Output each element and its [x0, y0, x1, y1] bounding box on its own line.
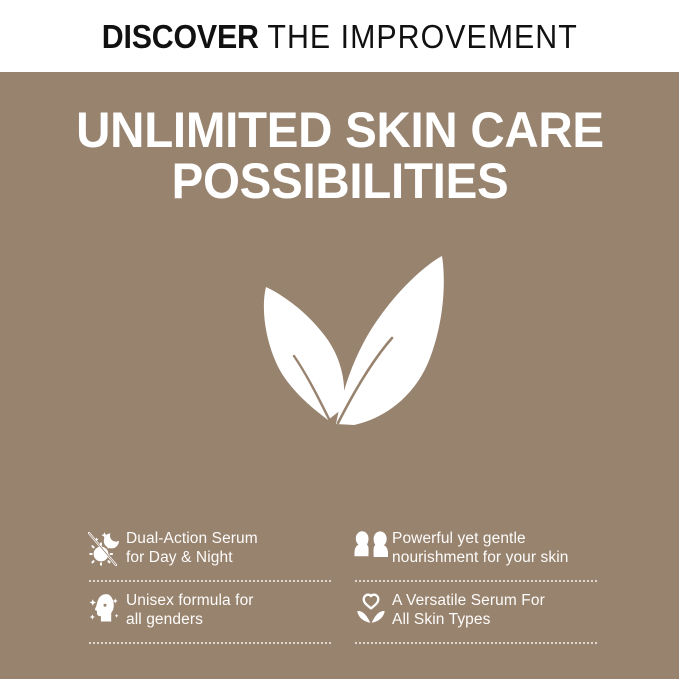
main-panel: UNLIMITED SKIN CARE POSSIBILITIES [0, 72, 679, 679]
two-face-silhouettes-icon [354, 529, 388, 567]
feature-line-2: nourishment for your skin [392, 549, 569, 568]
hands-holding-heart-icon [354, 591, 388, 629]
feature-label: Unisex formula for all genders [126, 590, 254, 630]
feature-item: Unisex formula for all genders [88, 582, 332, 644]
feature-label: A Versatile Serum For All Skin Types [392, 590, 545, 630]
feature-line-2: All Skin Types [392, 611, 545, 630]
face-profile-sparkle-icon [88, 591, 122, 629]
two-leaves-icon [190, 223, 490, 433]
feature-item: A Versatile Serum For All Skin Types [354, 582, 598, 644]
feature-label: Dual-Action Serum for Day & Night [126, 528, 258, 568]
feature-line-2: all genders [126, 611, 254, 630]
eyebrow-banner: DISCOVER THE IMPROVEMENT [0, 0, 679, 72]
feature-line-2: for Day & Night [126, 549, 258, 568]
feature-label: Powerful yet gentle nourishment for your… [392, 528, 569, 568]
headline-line-1: UNLIMITED SKIN CARE [55, 105, 625, 156]
eyebrow-strong-word: DISCOVER [101, 18, 258, 55]
feature-line-1: Unisex formula for [126, 592, 254, 611]
sun-moon-day-night-icon [88, 529, 122, 567]
eyebrow-text: DISCOVER THE IMPROVEMENT [101, 20, 577, 53]
eyebrow-light-words: THE IMPROVEMENT [267, 18, 577, 55]
feature-item: Powerful yet gentle nourishment for your… [354, 520, 598, 582]
feature-line-1: Dual-Action Serum [126, 530, 258, 549]
feature-line-1: Powerful yet gentle [392, 530, 569, 549]
headline-line-2: POSSIBILITIES [55, 156, 625, 207]
skin-care-promo-poster: DISCOVER THE IMPROVEMENT UNLIMITED SKIN … [0, 0, 679, 679]
feature-line-1: A Versatile Serum For [392, 592, 545, 611]
page-title: UNLIMITED SKIN CARE POSSIBILITIES [55, 105, 625, 207]
feature-grid: Dual-Action Serum for Day & Night Powerf… [88, 520, 598, 644]
feature-item: Dual-Action Serum for Day & Night [88, 520, 332, 582]
